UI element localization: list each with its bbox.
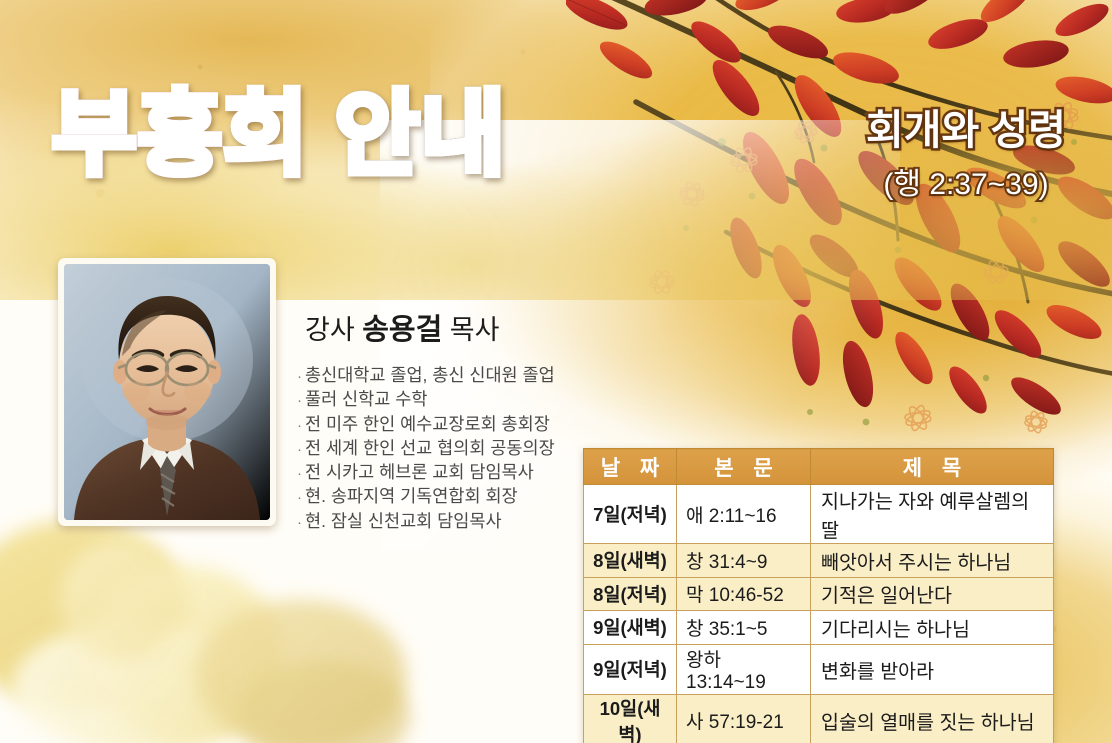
background-blob-e bbox=[60, 540, 180, 660]
table-header-row: 날 짜 본 문 제 목 bbox=[584, 449, 1054, 485]
bio-item: ·풀러 신학교 수학 bbox=[297, 388, 577, 412]
cell-title: 지나가는 자와 예루살렘의 딸 bbox=[811, 485, 1054, 544]
bio-item: ·현. 송파지역 기독연합회 회장 bbox=[297, 485, 577, 509]
cell-title: 변화를 받아라 bbox=[811, 644, 1054, 694]
cell-scripture: 창 35:1~5 bbox=[677, 611, 811, 645]
cell-date: 10일(새벽) bbox=[584, 694, 677, 743]
poster-title-secondary: 안내 bbox=[335, 86, 506, 185]
cell-date: 8일(새벽) bbox=[584, 544, 677, 578]
bullet-dot: · bbox=[297, 489, 302, 506]
cell-title: 기적은 일어난다 bbox=[811, 577, 1054, 611]
revival-meeting-poster: 부흥회안내 회개와 성령 (행 2:37~39) bbox=[0, 0, 1112, 743]
schedule-table: 날 짜 본 문 제 목 7일(저녁) 애 2:11~16 지나가는 자와 예루살… bbox=[583, 448, 1054, 743]
cell-date: 9일(새벽) bbox=[584, 611, 677, 645]
speaker-line: 강사 송용걸 목사 bbox=[305, 306, 499, 348]
bio-item: ·전 시카고 헤브론 교회 담임목사 bbox=[297, 461, 577, 485]
bio-text: 풀러 신학교 수학 bbox=[305, 389, 427, 409]
cell-date: 9일(저녁) bbox=[584, 644, 677, 694]
theme-block: 회개와 성령 (행 2:37~39) bbox=[835, 96, 1097, 203]
speaker-bio-list: ·총신대학교 졸업, 총신 신대원 졸업 ·풀러 신학교 수학 ·전 미주 한인… bbox=[297, 364, 577, 534]
cell-scripture: 왕하 13:14~19 bbox=[677, 644, 811, 694]
bullet-dot: · bbox=[297, 514, 302, 531]
speaker-prefix: 강사 bbox=[305, 315, 355, 345]
cell-scripture: 막 10:46-52 bbox=[677, 577, 811, 611]
bio-text: 현. 잠실 신천교회 담임목사 bbox=[305, 511, 502, 531]
table-row: 10일(새벽) 사 57:19-21 입술의 열매를 짓는 하나님 bbox=[584, 694, 1054, 743]
bullet-dot: · bbox=[297, 465, 302, 482]
bio-text: 전 세계 한인 선교 협의회 공동의장 bbox=[305, 438, 555, 458]
bio-text: 총신대학교 졸업, 총신 신대원 졸업 bbox=[305, 365, 555, 385]
portrait-illustration bbox=[64, 264, 270, 520]
header-sermon-title: 제 목 bbox=[811, 449, 1054, 485]
cell-title: 기다리시는 하나님 bbox=[811, 611, 1054, 645]
bullet-dot: · bbox=[297, 392, 302, 409]
cell-scripture: 창 31:4~9 bbox=[677, 544, 811, 578]
bio-item: ·전 세계 한인 선교 협의회 공동의장 bbox=[297, 437, 577, 461]
table-row: 9일(저녁) 왕하 13:14~19 변화를 받아라 bbox=[584, 644, 1054, 694]
bullet-dot: · bbox=[297, 417, 302, 434]
table-row: 8일(저녁) 막 10:46-52 기적은 일어난다 bbox=[584, 577, 1054, 611]
table-row: 9일(새벽) 창 35:1~5 기다리시는 하나님 bbox=[584, 611, 1054, 645]
bio-item: ·전 미주 한인 예수교장로회 총회장 bbox=[297, 413, 577, 437]
cell-scripture: 사 57:19-21 bbox=[677, 694, 811, 743]
cell-title: 빼앗아서 주시는 하나님 bbox=[811, 544, 1054, 578]
speaker-name: 송용걸 bbox=[362, 314, 442, 346]
cell-date: 7일(저녁) bbox=[584, 485, 677, 544]
header-scripture: 본 문 bbox=[677, 449, 811, 485]
speaker-suffix: 목사 bbox=[450, 315, 500, 345]
bio-item: ·현. 잠실 신천교회 담임목사 bbox=[297, 510, 577, 534]
speaker-photo bbox=[64, 264, 270, 520]
theme-title: 회개와 성령 bbox=[835, 96, 1097, 156]
bio-item: ·총신대학교 졸업, 총신 신대원 졸업 bbox=[297, 364, 577, 388]
table-row: 8일(새벽) 창 31:4~9 빼앗아서 주시는 하나님 bbox=[584, 544, 1054, 578]
bio-text: 현. 송파지역 기독연합회 회장 bbox=[305, 486, 518, 506]
poster-title-primary: 부흥회 bbox=[52, 86, 309, 185]
bullet-dot: · bbox=[297, 368, 302, 385]
cell-title: 입술의 열매를 짓는 하나님 bbox=[811, 694, 1054, 743]
cell-date: 8일(저녁) bbox=[584, 577, 677, 611]
bio-text: 전 시카고 헤브론 교회 담임목사 bbox=[305, 462, 534, 482]
bio-text: 전 미주 한인 예수교장로회 총회장 bbox=[305, 414, 550, 434]
poster-title: 부흥회안내 bbox=[52, 86, 506, 185]
header-date: 날 짜 bbox=[584, 449, 677, 485]
cell-scripture: 애 2:11~16 bbox=[677, 485, 811, 544]
theme-scripture-reference: (행 2:37~39) bbox=[835, 159, 1097, 203]
speaker-photo-frame bbox=[58, 258, 276, 526]
table-row: 7일(저녁) 애 2:11~16 지나가는 자와 예루살렘의 딸 bbox=[584, 485, 1054, 544]
bullet-dot: · bbox=[297, 441, 302, 458]
